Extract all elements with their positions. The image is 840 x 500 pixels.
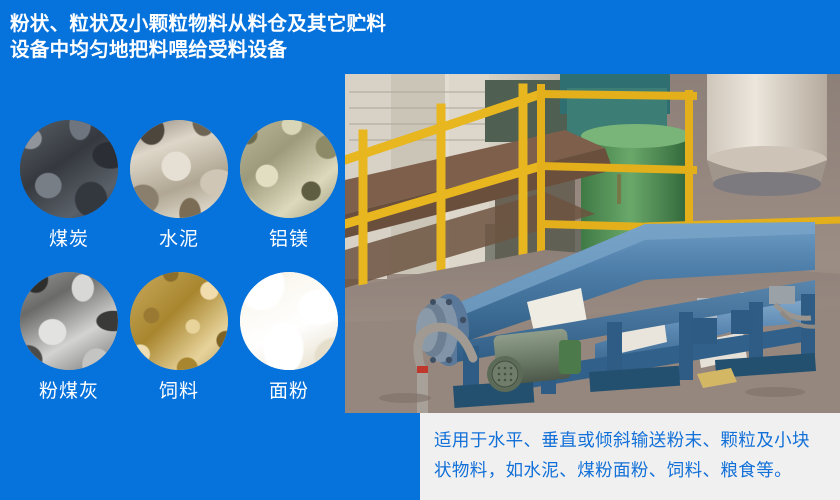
material-label: 粉煤灰 <box>14 381 124 403</box>
material-label: 饲料 <box>124 381 234 403</box>
cement-image <box>130 120 228 218</box>
fly-ash-image <box>20 272 118 370</box>
aluminum-magnesium-texture-icon <box>240 120 338 218</box>
material-item-aluminum-magnesium: 铝镁 <box>234 120 344 272</box>
feed-texture-icon <box>130 272 228 370</box>
flour-image <box>240 272 338 370</box>
screw-conveyor-photo-illustration <box>345 74 840 413</box>
material-item-coal: 煤炭 <box>14 120 124 272</box>
headline-line-1: 粉状、粒状及小颗粒物料从料仓及其它贮料 <box>10 11 410 37</box>
flour-texture-icon <box>240 272 338 370</box>
material-label: 煤炭 <box>14 229 124 251</box>
material-label: 铝镁 <box>234 229 344 251</box>
caption-line-1: 适用于水平、垂直或倾斜输送粉末、颗粒及小块 <box>434 425 830 455</box>
headline-line-2: 设备中均匀地把料喂给受料设备 <box>10 37 410 63</box>
caption-panel: 适用于水平、垂直或倾斜输送粉末、颗粒及小块 状物料，如水泥、煤粉面粉、饲料、粮食… <box>420 413 840 500</box>
material-row: 粉煤灰 饲料 面粉 <box>14 272 344 424</box>
caption-line-2: 状物料，如水泥、煤粉面粉、饲料、粮食等。 <box>434 455 830 485</box>
material-item-feed: 饲料 <box>124 272 234 424</box>
material-item-fly-ash: 粉煤灰 <box>14 272 124 424</box>
cement-texture-icon <box>130 120 228 218</box>
product-photo <box>345 74 840 413</box>
coal-texture-icon <box>20 120 118 218</box>
feed-image <box>130 272 228 370</box>
aluminum-magnesium-image <box>240 120 338 218</box>
page-title: 粉状、粒状及小颗粒物料从料仓及其它贮料 设备中均匀地把料喂给受料设备 <box>10 11 410 63</box>
material-row: 煤炭 水泥 铝镁 <box>14 120 344 272</box>
material-item-flour: 面粉 <box>234 272 344 424</box>
caption-text: 适用于水平、垂直或倾斜输送粉末、颗粒及小块 状物料，如水泥、煤粉面粉、饲料、粮食… <box>434 425 830 485</box>
promo-banner: 粉状、粒状及小颗粒物料从料仓及其它贮料 设备中均匀地把料喂给受料设备 煤炭 水泥 <box>0 0 840 500</box>
material-label: 面粉 <box>234 381 344 403</box>
material-grid: 煤炭 水泥 铝镁 <box>14 120 344 424</box>
fly-ash-texture-icon <box>20 272 118 370</box>
material-label: 水泥 <box>124 229 234 251</box>
material-item-cement: 水泥 <box>124 120 234 272</box>
coal-image <box>20 120 118 218</box>
